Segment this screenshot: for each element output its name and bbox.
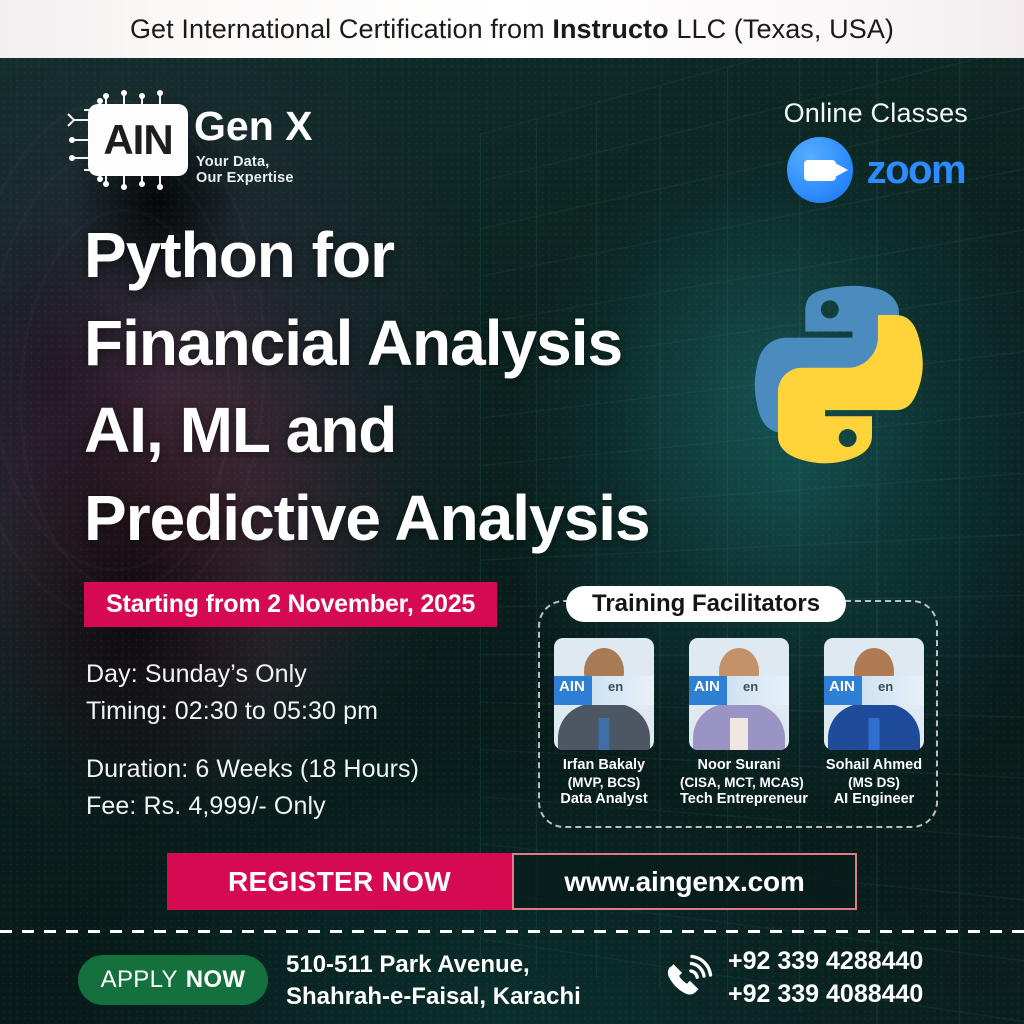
office-address: 510-511 Park Avenue, Shahrah-e-Faisal, K…	[286, 949, 581, 1012]
facilitator-card[interactable]: Noor Surani (CISA, MCT, MCAS) Tech Entre…	[680, 638, 798, 809]
register-bar: REGISTER NOW www.aingenx.com	[167, 853, 857, 910]
phone-number-1: +92 339 4288440	[728, 945, 923, 978]
facilitator-credentials: (MS DS)	[815, 775, 933, 791]
apply-now-button[interactable]: APPLY NOW	[78, 955, 268, 1005]
facilitators-list: Irfan Bakaly (MVP, BCS) Data Analyst Noo…	[545, 638, 933, 809]
facilitator-photo	[689, 638, 789, 750]
register-now-label: REGISTER NOW	[228, 866, 451, 898]
detail-fee: Fee: Rs. 4,999/- Only	[86, 788, 419, 825]
facilitator-role: AI Engineer	[815, 791, 933, 809]
course-headline: Python for Financial Analysis AI, ML and…	[84, 212, 650, 563]
ringing-phone-icon	[660, 952, 714, 1004]
register-now-button[interactable]: REGISTER NOW	[167, 853, 512, 910]
certification-suffix: LLC (Texas, USA)	[669, 14, 894, 44]
apply-now-regular: APPLY	[101, 966, 178, 994]
apply-now-bold: NOW	[186, 966, 246, 994]
facilitator-name: Sohail Ahmed	[815, 757, 933, 775]
zoom-wordmark: zoom	[867, 148, 965, 193]
detail-timing: Timing: 02:30 to 05:30 pm	[86, 693, 419, 730]
website-url: www.aingenx.com	[564, 866, 804, 898]
certification-text: Get International Certification from Ins…	[130, 14, 894, 45]
headline-line-1: Python for	[84, 212, 650, 300]
facilitator-card[interactable]: Irfan Bakaly (MVP, BCS) Data Analyst	[545, 638, 663, 809]
logo-ain-text: AIN	[103, 119, 172, 161]
online-classes-block: Online Classes zoom	[784, 98, 968, 203]
zoom-camera-icon	[787, 137, 853, 203]
headline-line-3: AI, ML and	[84, 387, 650, 475]
detail-duration: Duration: 6 Weeks (18 Hours)	[86, 751, 419, 788]
facilitator-name: Irfan Bakaly	[545, 757, 663, 775]
website-button[interactable]: www.aingenx.com	[512, 853, 857, 910]
facilitator-photo	[554, 638, 654, 750]
facilitators-title: Training Facilitators	[592, 590, 820, 618]
aingenx-logo[interactable]: AIN Gen X Your Data, Our Expertise	[36, 92, 296, 188]
phone-number-2: +92 339 4088440	[728, 978, 923, 1011]
certification-banner: Get International Certification from Ins…	[0, 0, 1024, 58]
facilitator-role: Data Analyst	[545, 791, 663, 809]
detail-day: Day: Sunday’s Only	[86, 656, 419, 693]
python-logo-icon	[735, 272, 925, 467]
address-line-1: 510-511 Park Avenue,	[286, 949, 581, 981]
flyer-canvas: Get International Certification from Ins…	[0, 0, 1024, 1024]
course-details: Day: Sunday’s Only Timing: 02:30 to 05:3…	[86, 656, 419, 824]
start-date-text: Starting from 2 November, 2025	[106, 590, 475, 619]
contact-phones[interactable]: +92 339 4288440 +92 339 4088440	[660, 945, 923, 1011]
certification-prefix: Get International Certification from	[130, 14, 552, 44]
facilitator-name: Noor Surani	[680, 757, 798, 775]
headline-line-4: Predictive Analysis	[84, 475, 650, 563]
online-classes-label: Online Classes	[784, 98, 968, 129]
zoom-logo: zoom	[784, 137, 968, 203]
phone-numbers: +92 339 4288440 +92 339 4088440	[728, 945, 923, 1011]
headline-line-2: Financial Analysis	[84, 300, 650, 388]
facilitator-role: Tech Entrepreneur	[680, 791, 798, 809]
facilitator-credentials: (CISA, MCT, MCAS)	[680, 775, 798, 791]
facilitators-title-pill: Training Facilitators	[566, 586, 846, 622]
facilitator-credentials: (MVP, BCS)	[545, 775, 663, 791]
logo-chip-box: AIN	[88, 104, 188, 176]
footer-divider	[0, 930, 1024, 933]
certification-brand: Instructo	[552, 14, 668, 44]
facilitator-card[interactable]: Sohail Ahmed (MS DS) AI Engineer	[815, 638, 933, 809]
start-date-banner: Starting from 2 November, 2025	[84, 582, 497, 627]
address-line-2: Shahrah-e-Faisal, Karachi	[286, 981, 581, 1013]
facilitator-photo	[824, 638, 924, 750]
logo-x-mark: X	[285, 103, 312, 149]
